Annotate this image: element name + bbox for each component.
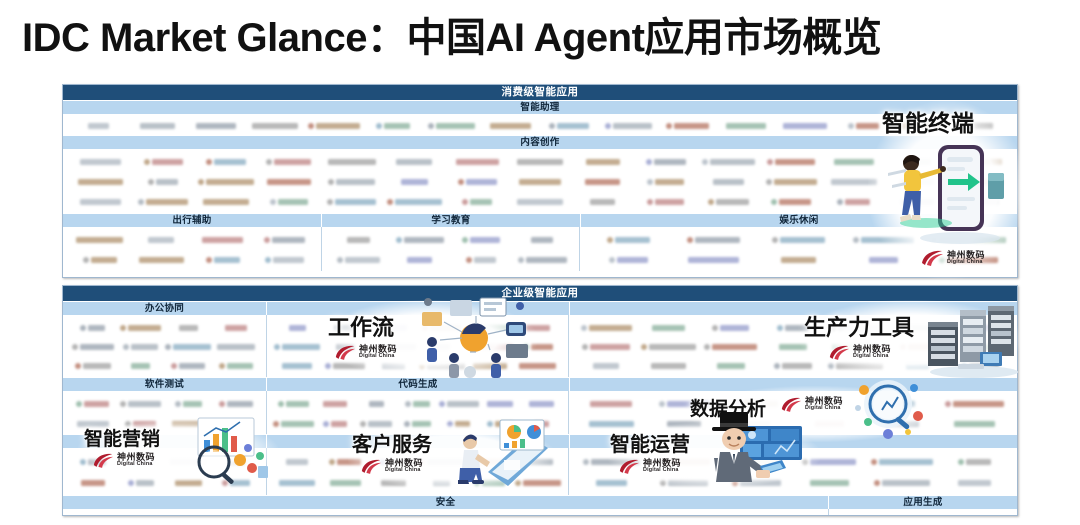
person-laptop-dashboard-icon xyxy=(444,416,556,496)
vendor-logo xyxy=(671,250,756,270)
magnifier-chart-icon xyxy=(174,414,278,486)
vendor-logo xyxy=(571,192,634,212)
brand-name-en: Digital China xyxy=(385,468,423,473)
vendor-logo xyxy=(634,192,697,212)
enterprise-column-label-office-collab: 办公协同 xyxy=(63,301,266,315)
brand-logo-smart-operations: 神州数码 Digital China xyxy=(618,458,681,475)
vendor-logo xyxy=(776,117,835,134)
vendor-logo xyxy=(509,172,572,192)
vendor-logo xyxy=(445,512,499,516)
vendor-logo xyxy=(69,337,117,356)
vendor-logo xyxy=(131,250,193,270)
digital-china-swoosh-icon xyxy=(334,344,356,361)
vendor-logo xyxy=(363,117,422,134)
vendor-logo xyxy=(481,117,540,134)
vendor-logo xyxy=(509,152,572,172)
callout-workflow: 工作流 神州数码 Digital China xyxy=(322,300,537,378)
vendor-logo xyxy=(760,192,823,212)
vendor-logo xyxy=(938,451,1011,472)
vendor-logo xyxy=(132,152,195,172)
brand-logo-customer-service: 神州数码 Digital China xyxy=(360,458,423,475)
vendor-logo xyxy=(273,337,321,356)
vendor-logo xyxy=(212,394,260,414)
vendor-logo xyxy=(69,117,128,134)
vendor-logo xyxy=(634,172,697,192)
tophat-character-tablet-icon xyxy=(700,410,816,492)
vendor-logo xyxy=(273,394,314,414)
vendor-logo xyxy=(69,394,117,414)
callout-productivity-tools: 生产力工具 神州数码 Digital China xyxy=(800,300,1022,378)
digital-china-swoosh-icon xyxy=(92,452,114,469)
callout-customer-service: 客户服务 神州数码 Digital China xyxy=(348,424,556,490)
vendor-logo xyxy=(700,356,762,375)
vendor-logo xyxy=(446,192,509,212)
vendor-logo xyxy=(320,172,383,192)
brand-name-en: Digital China xyxy=(947,260,985,265)
vendor-logo xyxy=(69,192,132,212)
vendor-logo xyxy=(521,394,562,414)
vendor-logo xyxy=(212,337,260,356)
vendor-logo xyxy=(356,394,397,414)
enterprise-app-generation-logo-grid xyxy=(828,509,1017,516)
vendor-logo xyxy=(392,512,446,516)
vendor-logo xyxy=(328,230,389,250)
vendor-logo xyxy=(671,230,756,250)
vendor-logo xyxy=(479,394,520,414)
vendor-logo xyxy=(383,172,446,192)
vendor-logo xyxy=(328,250,389,270)
vendor-logo xyxy=(575,394,648,414)
vendor-logo xyxy=(389,230,450,250)
vendor-logo xyxy=(756,230,841,250)
callout-smart-marketing: 智能营销 神州数码 Digital China xyxy=(78,420,278,482)
digital-china-swoosh-icon xyxy=(920,249,944,267)
vendor-logo xyxy=(717,117,776,134)
vendor-logo xyxy=(257,172,320,192)
digital-china-swoosh-icon xyxy=(360,458,382,475)
vendor-logo xyxy=(246,117,305,134)
slide-root: IDC Market Glance：中国AI Agent应用市场概览 消费级智能… xyxy=(0,0,1080,525)
vendor-logo xyxy=(637,337,699,356)
vendor-logo xyxy=(553,512,607,516)
vendor-logo xyxy=(697,152,760,172)
vendor-logo xyxy=(866,472,939,493)
vendor-logo xyxy=(637,318,699,337)
vendor-logo xyxy=(835,512,879,516)
vendor-logo xyxy=(499,512,553,516)
vendor-logo xyxy=(305,117,364,134)
vendor-logo xyxy=(230,512,284,516)
digital-china-swoosh-icon xyxy=(618,458,640,475)
vendor-logo xyxy=(165,318,213,337)
vendor-logo xyxy=(451,230,512,250)
vendor-logo xyxy=(697,172,760,192)
enterprise-row4-bodies xyxy=(63,509,1017,516)
vendor-logo xyxy=(192,250,254,270)
consumer-column-label-education: 学习教育 xyxy=(321,213,580,227)
vendor-logo xyxy=(320,152,383,172)
consumer-section-title: 消费级智能应用 xyxy=(63,85,1017,100)
server-rack-icon xyxy=(922,296,1022,380)
callout-customer-service-label: 客户服务 xyxy=(352,428,432,457)
vendor-logo xyxy=(69,172,132,192)
vendor-logo xyxy=(69,512,123,516)
vendor-logo xyxy=(132,172,195,192)
vendor-logo xyxy=(760,172,823,192)
magnifier-data-icon xyxy=(852,376,930,444)
vendor-logo xyxy=(389,250,450,270)
enterprise-row4-headers: 安全 应用生成 xyxy=(63,495,1017,509)
consumer-education-logo-grid xyxy=(321,227,579,271)
vendor-logo xyxy=(195,172,258,192)
vendor-logo xyxy=(938,472,1011,493)
callout-smart-operations-label: 智能运营 xyxy=(610,428,690,457)
vendor-logo xyxy=(586,230,671,250)
vendor-logo xyxy=(284,512,338,516)
vendor-logo xyxy=(195,152,258,172)
vendor-logo xyxy=(879,512,923,516)
vendor-logo xyxy=(273,414,314,434)
vendor-logo xyxy=(117,394,165,414)
enterprise-section-title: 企业级智能应用 xyxy=(63,286,1017,301)
vendor-logo xyxy=(697,192,760,212)
vendor-logo xyxy=(273,318,321,337)
vendor-logo xyxy=(254,230,316,250)
vendor-logo xyxy=(967,512,1011,516)
vendor-logo xyxy=(254,250,316,270)
vendor-logo xyxy=(273,451,321,472)
vendor-logo xyxy=(540,117,599,134)
vendor-logo xyxy=(128,117,187,134)
vendor-logo xyxy=(165,356,213,375)
callout-smart-operations: 智能运营 神州数码 Digital China xyxy=(608,422,820,488)
callout-productivity-tools-label: 生产力工具 xyxy=(804,310,914,342)
vendor-logo xyxy=(131,230,193,250)
vendor-logo xyxy=(165,394,213,414)
brand-name-en: Digital China xyxy=(853,354,891,359)
person-with-smartphone-icon xyxy=(878,137,1018,249)
vendor-logo xyxy=(446,172,509,192)
vendor-logo xyxy=(314,394,355,414)
vendor-logo xyxy=(177,512,231,516)
workflow-people-network-icon xyxy=(410,294,538,380)
vendor-logo xyxy=(383,152,446,172)
enterprise-column-label-software-testing: 软件测试 xyxy=(63,377,266,391)
vendor-logo xyxy=(320,192,383,212)
vendor-logo xyxy=(69,318,117,337)
vendor-logo xyxy=(634,152,697,172)
vendor-logo xyxy=(123,512,177,516)
enterprise-column-label-security: 安全 xyxy=(63,495,828,509)
vendor-logo xyxy=(397,394,438,414)
vendor-logo xyxy=(512,250,573,270)
vendor-logo xyxy=(509,192,572,212)
vendor-logo xyxy=(117,356,165,375)
vendor-logo xyxy=(923,512,967,516)
vendor-logo xyxy=(637,356,699,375)
vendor-logo xyxy=(571,172,634,192)
vendor-logo xyxy=(760,152,823,172)
brand-logo-workflow: 神州数码 Digital China xyxy=(334,344,397,361)
vendor-logo xyxy=(756,250,841,270)
vendor-logo xyxy=(257,192,320,212)
enterprise-security-logo-grid xyxy=(63,509,828,516)
vendor-logo xyxy=(117,318,165,337)
brand-logo-productivity-tools: 神州数码 Digital China xyxy=(828,344,891,361)
vendor-logo xyxy=(661,512,715,516)
enterprise-column-label-app-generation: 应用生成 xyxy=(828,495,1017,509)
vendor-logo xyxy=(768,512,822,516)
vendor-logo xyxy=(165,337,213,356)
brand-logo-smart-marketing: 神州数码 Digital China xyxy=(92,452,155,469)
vendor-logo xyxy=(338,512,392,516)
vendor-logo xyxy=(714,512,768,516)
brand-logo-smart-terminal: 神州数码 Digital China xyxy=(920,249,985,267)
vendor-logo xyxy=(700,318,762,337)
brand-name-en: Digital China xyxy=(117,462,155,467)
vendor-logo xyxy=(451,250,512,270)
vendor-logo xyxy=(132,192,195,212)
vendor-logo xyxy=(383,192,446,212)
brand-name-en: Digital China xyxy=(643,468,681,473)
callout-smart-marketing-label: 智能营销 xyxy=(84,424,160,451)
vendor-logo xyxy=(69,230,131,250)
callout-smart-terminal: 智能终端 xyxy=(874,101,1020,279)
vendor-logo xyxy=(599,117,658,134)
vendor-logo xyxy=(69,152,132,172)
vendor-logo xyxy=(117,337,165,356)
vendor-logo xyxy=(575,318,637,337)
digital-china-swoosh-icon xyxy=(828,344,850,361)
vendor-logo xyxy=(571,152,634,172)
vendor-logo xyxy=(273,356,321,375)
vendor-logo xyxy=(446,152,509,172)
vendor-logo xyxy=(658,117,717,134)
vendor-logo xyxy=(187,117,246,134)
consumer-column-label-travel: 出行辅助 xyxy=(63,213,321,227)
vendor-logo xyxy=(212,356,260,375)
callout-workflow-label: 工作流 xyxy=(328,310,394,342)
vendor-logo xyxy=(607,512,661,516)
vendor-logo xyxy=(195,192,258,212)
vendor-logo xyxy=(586,250,671,270)
vendor-logo xyxy=(422,117,481,134)
vendor-logo xyxy=(69,356,117,375)
vendor-logo xyxy=(938,394,1011,414)
callout-smart-terminal-label: 智能终端 xyxy=(882,104,974,138)
vendor-logo xyxy=(938,414,1011,434)
vendor-logo xyxy=(257,152,320,172)
vendor-logo xyxy=(575,356,637,375)
vendor-logo xyxy=(575,337,637,356)
vendor-logo xyxy=(192,230,254,250)
vendor-logo xyxy=(438,394,479,414)
page-title: IDC Market Glance：中国AI Agent应用市场概览 xyxy=(22,16,1062,60)
vendor-logo xyxy=(273,472,321,493)
brand-name-en: Digital China xyxy=(359,354,397,359)
vendor-logo xyxy=(212,318,260,337)
enterprise-office-collab-logo-grid xyxy=(63,315,266,377)
consumer-travel-logo-grid xyxy=(63,227,321,271)
vendor-logo xyxy=(866,451,939,472)
vendor-logo xyxy=(69,250,131,270)
vendor-logo xyxy=(512,230,573,250)
vendor-logo xyxy=(700,337,762,356)
